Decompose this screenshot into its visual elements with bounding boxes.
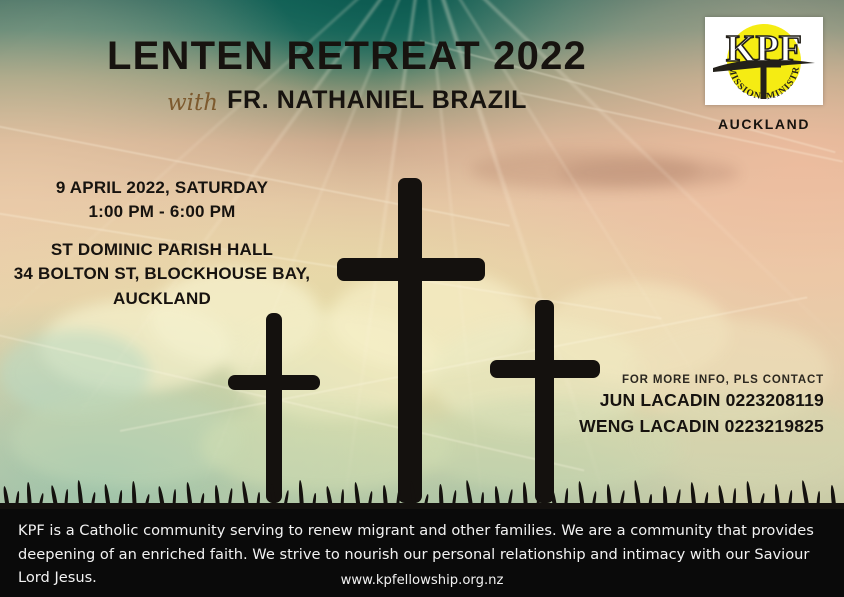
logo-acronym: KPF bbox=[726, 28, 802, 70]
logo-artwork: KPF MISSION MINISTRIES bbox=[705, 17, 823, 105]
event-details: 9 APRIL 2022, SATURDAY 1:00 PM - 6:00 PM… bbox=[12, 176, 312, 311]
event-time: 1:00 PM - 6:00 PM bbox=[12, 200, 312, 224]
contact-person-2: WENG LACADIN 0223219825 bbox=[524, 415, 824, 438]
page-title: LENTEN RETREAT 2022 bbox=[0, 34, 694, 79]
kpf-logo: KPF MISSION MINISTRIES bbox=[705, 17, 823, 105]
poster-canvas: LENTEN RETREAT 2022 withFR. NATHANIEL BR… bbox=[0, 0, 844, 597]
logo-location-label: AUCKLAND bbox=[705, 116, 823, 132]
footer-bar: KPF is a Catholic community serving to r… bbox=[0, 509, 844, 597]
speaker-line: withFR. NATHANIEL BRAZIL bbox=[0, 86, 694, 115]
footer-website[interactable]: www.kpfellowship.org.nz bbox=[0, 573, 844, 588]
contact-person-1: JUN LACADIN 0223208119 bbox=[524, 389, 824, 412]
contact-header: FOR MORE INFO, PLS CONTACT bbox=[524, 374, 824, 386]
with-script-word: with bbox=[167, 90, 218, 116]
event-date: 9 APRIL 2022, SATURDAY bbox=[12, 176, 312, 200]
venue-city: AUCKLAND bbox=[12, 287, 312, 311]
venue-name: ST DOMINIC PARISH HALL bbox=[12, 238, 312, 262]
logo-arc-mission: MISSION bbox=[726, 66, 763, 103]
venue-address: 34 BOLTON ST, BLOCKHOUSE BAY, bbox=[12, 262, 312, 286]
speaker-name: FR. NATHANIEL BRAZIL bbox=[227, 86, 527, 114]
contact-block: FOR MORE INFO, PLS CONTACT JUN LACADIN 0… bbox=[524, 374, 824, 439]
